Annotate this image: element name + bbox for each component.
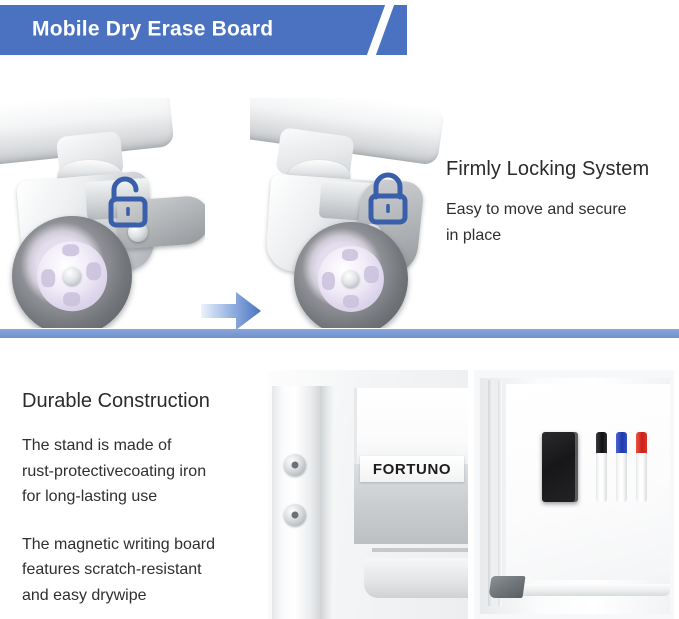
section-divider <box>0 329 679 338</box>
wheel-hub-cap <box>63 267 81 285</box>
locked-padlock-icon <box>360 170 416 233</box>
marker-cap <box>596 432 607 454</box>
marker-cap <box>616 432 627 454</box>
hub-spoke-hole <box>64 293 81 307</box>
hub-spoke-hole <box>364 266 379 283</box>
stand-photo: FORTUNO <box>268 370 468 619</box>
marker-barrel <box>596 453 607 502</box>
paragraph-line: The stand is made of <box>22 433 272 459</box>
stand-post-shadow <box>320 386 334 619</box>
durable-construction-headline: Durable Construction <box>22 390 272 413</box>
hub-spoke-hole <box>342 249 358 261</box>
marker-barrel <box>636 453 647 502</box>
hub-spoke-hole <box>343 295 359 308</box>
paragraph-line: rust-protectivecoating iron <box>22 459 272 485</box>
hub-spoke-hole <box>41 269 55 287</box>
tray-edge <box>372 548 468 552</box>
whiteboard-photo <box>474 370 674 619</box>
header-banner: Mobile Dry Erase Board <box>0 5 407 55</box>
paragraph-line: The magnetic writing board <box>22 532 272 558</box>
marker-tray <box>364 558 468 598</box>
paragraph-line: features scratch-resistant <box>22 557 272 583</box>
locking-system-body: Easy to move and secure in place <box>446 197 679 250</box>
product-infographic: Mobile Dry Erase Board <box>0 0 679 619</box>
durable-construction-paragraph-two: The magnetic writing board features scra… <box>22 532 272 609</box>
board-bottom-rail <box>502 584 670 596</box>
brand-label-plate: FORTUNO <box>360 456 464 482</box>
caster-photo-locked <box>250 98 455 328</box>
durable-construction-paragraph-one: The stand is made of rust-protectivecoat… <box>22 433 272 510</box>
caster-photo-unlocked <box>0 98 205 328</box>
hub-spoke-hole <box>86 262 101 280</box>
brand-name: FORTUNO <box>373 461 451 478</box>
board-frame-rail <box>488 380 493 606</box>
wheel-hub <box>37 241 107 311</box>
locking-system-body-line: Easy to move and secure <box>446 197 679 223</box>
hub-spoke-hole <box>62 244 79 257</box>
stand-post <box>272 386 320 619</box>
durable-construction-copy: Durable Construction The stand is made o… <box>22 390 272 609</box>
eraser <box>542 432 578 502</box>
board-corner-bracket <box>488 576 525 598</box>
caster-wheel <box>294 222 408 328</box>
section-durable-construction: Durable Construction The stand is made o… <box>0 338 679 619</box>
locking-system-copy: Firmly Locking System Easy to move and s… <box>446 158 679 250</box>
wheel-hub <box>318 246 384 312</box>
diagonal-slash-icon <box>365 5 397 55</box>
locking-system-headline: Firmly Locking System <box>446 158 679 181</box>
marker-red <box>636 432 647 502</box>
marker-barrel <box>616 453 627 502</box>
board-edge <box>354 388 468 464</box>
unlocked-padlock-icon <box>100 173 156 236</box>
wheel-hub-cap <box>342 270 359 287</box>
page-title: Mobile Dry Erase Board <box>32 18 273 42</box>
section-firmly-locking-system: Firmly Locking System Easy to move and s… <box>0 70 679 330</box>
marker-black <box>596 432 607 502</box>
paragraph-line: for long-lasting use <box>22 484 272 510</box>
locking-system-body-line: in place <box>446 223 679 249</box>
stand-bolt <box>284 504 306 526</box>
stand-bolt <box>284 454 306 476</box>
board-frame-rail <box>498 380 502 606</box>
marker-blue <box>616 432 627 502</box>
hub-spoke-hole <box>322 272 335 289</box>
paragraph-line: and easy drywipe <box>22 583 272 609</box>
marker-cap <box>636 432 647 454</box>
